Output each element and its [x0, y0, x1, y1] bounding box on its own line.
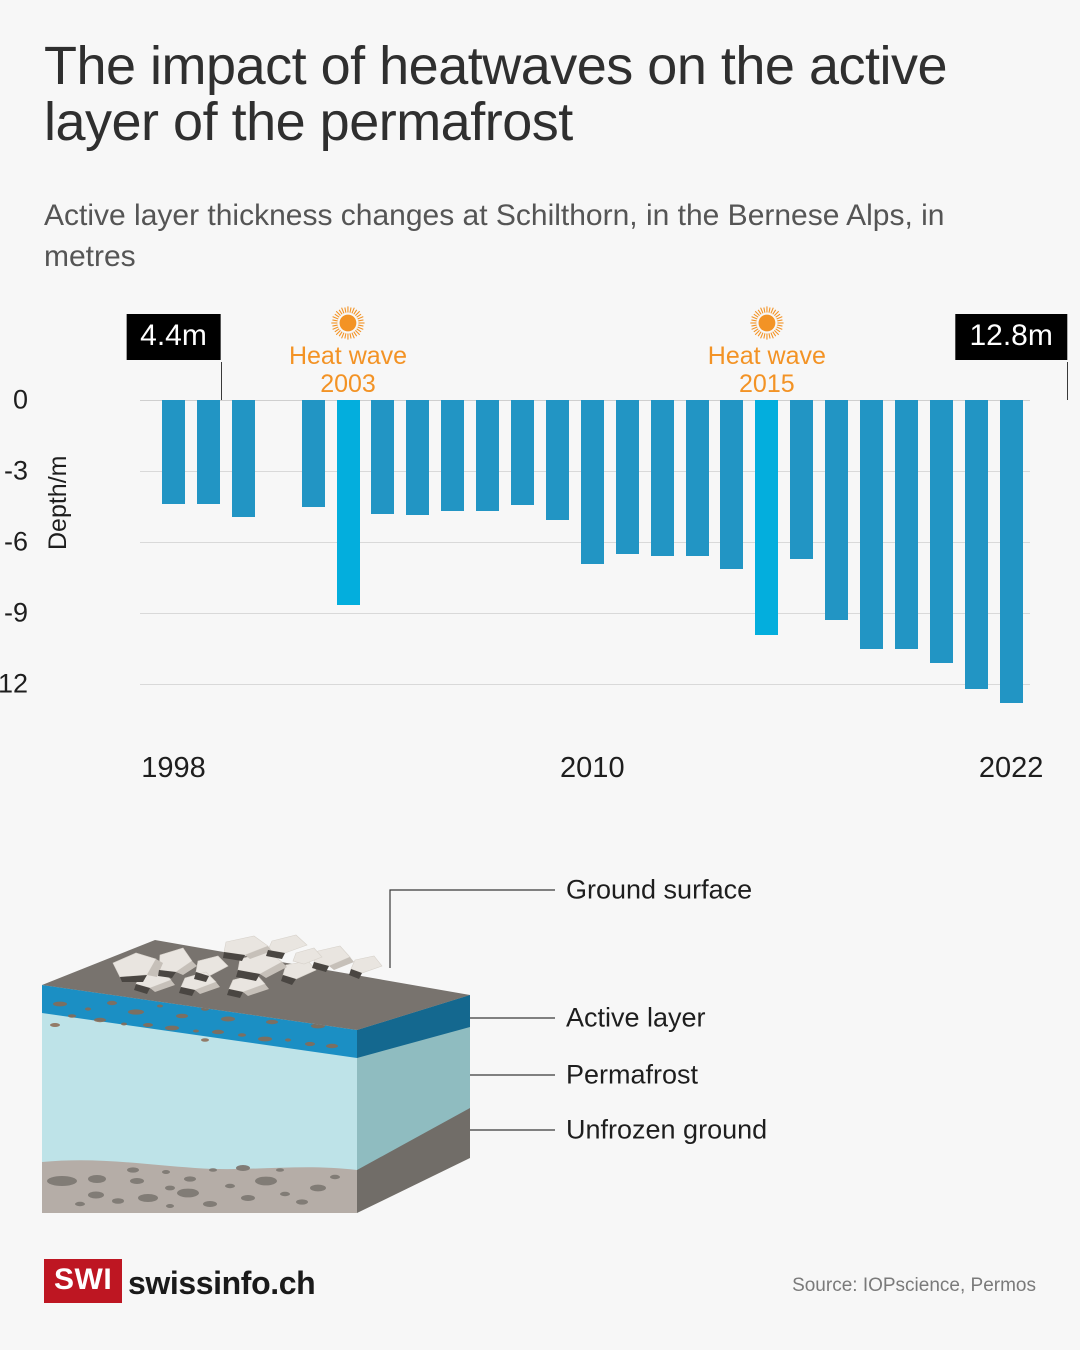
plot-area	[140, 400, 1030, 720]
y-axis-label: Depth/m	[44, 456, 73, 550]
sun-icon	[708, 306, 826, 340]
callout-label: 12.8m	[955, 314, 1066, 360]
swi-logo-mark: SWI	[44, 1259, 122, 1303]
callout-stem	[1067, 362, 1068, 400]
y-tick-label: 0	[0, 385, 28, 416]
bar-2012[interactable]	[651, 400, 674, 556]
permafrost-block-svg	[0, 820, 1080, 1250]
permafrost-block-diagram: Ground surface Active layer Permafrost U…	[0, 820, 1080, 1250]
callout-stem	[221, 362, 222, 400]
bar-1999[interactable]	[197, 400, 220, 504]
heat-wave-marker-2015: Heat wave2015	[708, 306, 826, 398]
swi-logo-word: swissinfo.ch	[128, 1265, 315, 1302]
bar-2017[interactable]	[825, 400, 848, 620]
bar-2015[interactable]	[755, 400, 778, 635]
bar-2003[interactable]	[337, 400, 360, 605]
bar-2013[interactable]	[686, 400, 709, 556]
footer: SWI swissinfo.ch Source: IOPscience, Per…	[0, 1255, 1080, 1335]
bar-2011[interactable]	[616, 400, 639, 554]
y-tick-label: -6	[0, 527, 28, 558]
heat-wave-text: Heat wave	[289, 342, 407, 370]
y-tick-label: -3	[0, 456, 28, 487]
heat-wave-text: Heat wave	[708, 342, 826, 370]
x-tick-label: 2022	[979, 752, 1044, 785]
page-title: The impact of heatwaves on the active la…	[44, 38, 1054, 150]
bar-2020[interactable]	[930, 400, 953, 663]
bar-2002[interactable]	[302, 400, 325, 507]
bar-2008[interactable]	[511, 400, 534, 505]
heat-wave-marker-2003: Heat wave2003	[289, 306, 407, 398]
bar-2022[interactable]	[1000, 400, 1023, 703]
bar-2005[interactable]	[406, 400, 429, 515]
y-tick-label: -12	[0, 669, 28, 700]
bar-2010[interactable]	[581, 400, 604, 564]
bar-2009[interactable]	[546, 400, 569, 520]
bar-2019[interactable]	[895, 400, 918, 649]
page-subtitle: Active layer thickness changes at Schilt…	[44, 196, 1024, 278]
bar-2006[interactable]	[441, 400, 464, 511]
callout-label: 4.4m	[126, 314, 221, 360]
label-unfrozen-ground: Unfrozen ground	[566, 1115, 767, 1146]
heat-wave-year: 2015	[708, 370, 826, 398]
bar-2018[interactable]	[860, 400, 883, 649]
bar-chart: Depth/m 4.4m12.8mHeat wave2003Heat wave2…	[0, 300, 1080, 800]
value-callout-2022: 12.8m	[1011, 314, 1080, 360]
bar-2014[interactable]	[720, 400, 743, 569]
bar-2016[interactable]	[790, 400, 813, 559]
bar-2007[interactable]	[476, 400, 499, 511]
heat-wave-year: 2003	[289, 370, 407, 398]
label-ground-surface: Ground surface	[566, 875, 752, 906]
gridline--12	[140, 684, 1030, 685]
x-tick-label: 2010	[560, 752, 625, 785]
label-permafrost: Permafrost	[566, 1060, 698, 1091]
sun-icon	[289, 306, 407, 340]
source-credit: Source: IOPscience, Permos	[792, 1275, 1036, 1297]
y-tick-label: -9	[0, 598, 28, 629]
label-active-layer: Active layer	[566, 1003, 706, 1034]
bar-2004[interactable]	[371, 400, 394, 514]
bar-2021[interactable]	[965, 400, 988, 689]
bar-2000[interactable]	[232, 400, 255, 517]
value-callout-1998: 4.4m	[174, 314, 269, 360]
infographic-page: The impact of heatwaves on the active la…	[0, 0, 1080, 1350]
x-tick-label: 1998	[141, 752, 206, 785]
bar-1998[interactable]	[162, 400, 185, 504]
